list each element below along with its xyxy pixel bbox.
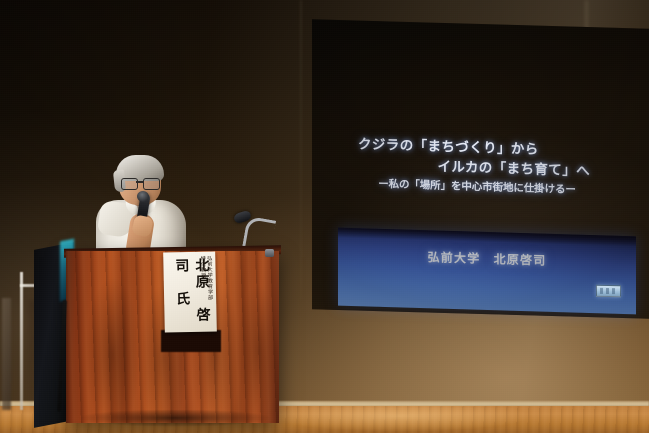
name-placard: 北原 啓司 氏 弘前大学教育学部特任教授 — [163, 251, 217, 332]
wall-seam-left — [300, 0, 302, 300]
lecture-photo-scene: クジラの「まちづくり」から イルカの「まち育て」へ ー私の「場所」を中心市街地に… — [0, 0, 649, 433]
slide-title-block: クジラの「まちづくり」から イルカの「まち育て」へ ー私の「場所」を中心市街地に… — [352, 134, 602, 199]
placard-affiliation-text: 弘前大学教育学部特任教授 — [199, 256, 213, 301]
stand-secondary-post — [2, 298, 11, 410]
eyeglasses-icon — [121, 178, 161, 188]
stand-vertical-post — [20, 272, 23, 410]
podium-floor-shadow — [52, 410, 297, 430]
gooseneck-mic-base — [265, 249, 274, 257]
wall-switch-plate-icon[interactable] — [596, 285, 621, 298]
podium-dark-inset-panel — [161, 330, 221, 352]
